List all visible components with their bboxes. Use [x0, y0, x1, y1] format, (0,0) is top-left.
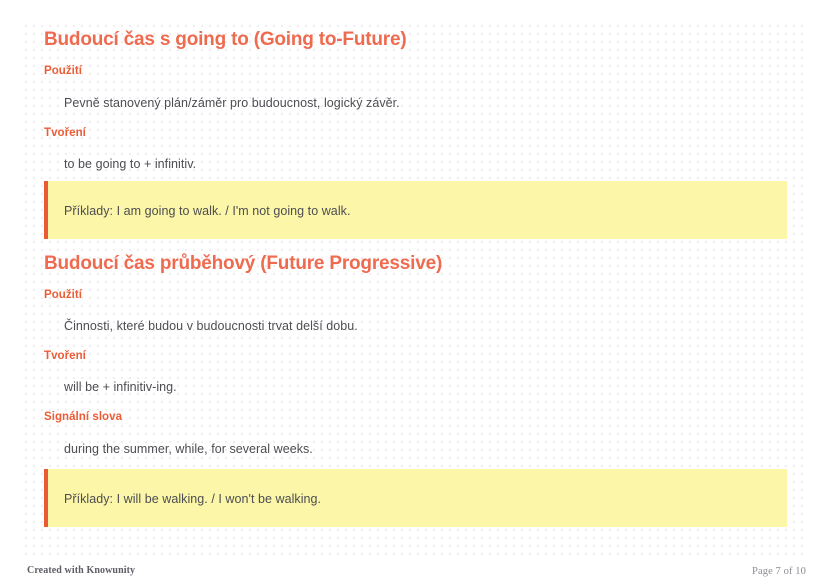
body-text-formation-1: to be going to + infinitiv. — [64, 158, 196, 171]
subheading-tvoreni-1: Tvoření — [44, 128, 86, 140]
subheading-tvoreni-2: Tvoření — [44, 351, 86, 363]
footer-credit: Created with Knowunity — [27, 565, 135, 576]
page-footer: Created with Knowunity Page 7 of 10 — [0, 560, 828, 586]
body-text-usage-1: Pevně stanovený plán/záměr pro budoucnos… — [64, 97, 400, 110]
callout-text-going-to: Příklady: I am going to walk. / I'm not … — [64, 205, 350, 218]
body-text-signal-words: during the summer, while, for several we… — [64, 443, 313, 456]
body-text-usage-2: Činnosti, které budou v budoucnosti trva… — [64, 320, 358, 333]
callout-accent-bar — [44, 181, 48, 239]
section-heading-future-progressive: Budoucí čas průběhový (Future Progressiv… — [44, 254, 442, 273]
subheading-signalni-slova: Signální slova — [44, 412, 122, 424]
page-canvas: Budoucí čas s going to (Going to-Future)… — [0, 0, 828, 586]
footer-page-number: Page 7 of 10 — [752, 566, 806, 577]
callout-text-future-progressive: Příklady: I will be walking. / I won't b… — [64, 493, 321, 506]
example-callout-future-progressive: Příklady: I will be walking. / I won't b… — [44, 469, 787, 527]
callout-accent-bar — [44, 469, 48, 527]
subheading-pouziti-1: Použití — [44, 66, 82, 78]
body-text-formation-2: will be + infinitiv-ing. — [64, 381, 177, 394]
example-callout-going-to: Příklady: I am going to walk. / I'm not … — [44, 181, 787, 239]
subheading-pouziti-2: Použití — [44, 290, 82, 302]
section-heading-going-to: Budoucí čas s going to (Going to-Future) — [44, 30, 406, 49]
